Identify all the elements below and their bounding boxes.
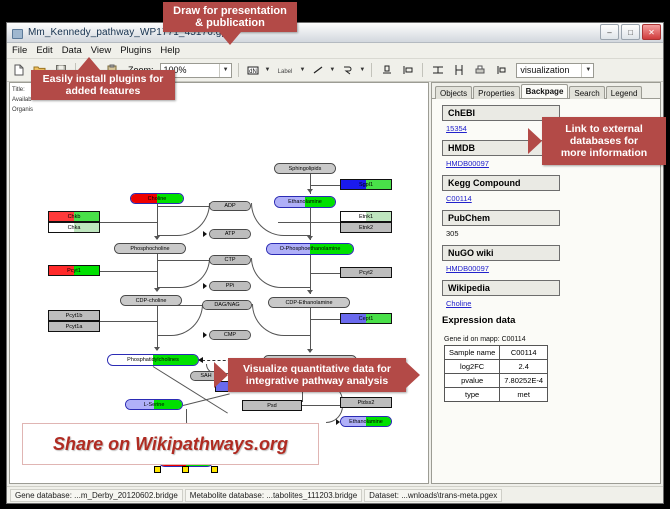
callout-arrow-left-icon [214,362,228,388]
line-icon[interactable] [309,62,326,79]
callout-line: Draw for presentation [173,5,287,17]
callout-line: more information [561,147,647,159]
node-label: Ethanolamine [349,419,383,425]
node-label: Ptdss2 [358,400,375,406]
data-node-icon[interactable]: dN [245,62,262,79]
node-label: SAH [200,373,211,379]
meta-title-label: Title: [12,85,33,95]
callout-arrow-right-icon [406,362,420,388]
node-label: ATP [225,231,235,237]
meta-available-label: Availab [12,95,33,105]
callout-arrow-left-icon [528,128,542,154]
callout-arrow-down-icon [219,32,241,45]
db-link-nugo-wiki[interactable]: HMDB00097 [446,264,652,273]
edge-sgpl1-to-backbone [310,185,340,186]
align-icon[interactable] [378,62,395,79]
node-label: Chkb [68,214,81,220]
status-gene-database: Gene database: ...m_Derby_20120602.bridg… [10,489,183,502]
new-file-icon[interactable] [10,62,27,79]
node-label: PPi [226,283,235,289]
close-button[interactable]: ✕ [642,24,661,40]
arrow-icon [154,288,160,292]
pathway-canvas[interactable]: Title: Availab Organis [9,82,429,484]
db-header-kegg-compound: Kegg Compound [442,175,560,191]
edge-lserine-to-junction [183,393,230,406]
menu-view[interactable]: View [91,45,111,56]
cell-label: pvalue [445,374,500,388]
toolbar-separator-2 [238,63,239,77]
node-label: O-Phosphoethanolamine [280,246,341,252]
node-label: Pcyt2 [359,270,373,276]
chevron-down-icon[interactable]: ▼ [359,67,365,73]
callout-line: Visualize quantitative data for [243,363,391,375]
maximize-button[interactable]: □ [621,24,640,40]
callout-line: & publication [195,17,265,29]
arrow-icon [203,283,207,289]
metabolite-node-ctp[interactable]: CTP [209,255,251,265]
node-label: Chka [68,225,81,231]
visualization-combobox[interactable]: visualization ▼ [516,63,594,78]
edge-cept1-to-backbone [310,319,340,320]
metabolite-node-cmp[interactable]: CMP [209,330,251,340]
status-metabolite-database: Metabolite database: ...tabolites_111203… [185,489,362,502]
toolbar-separator-3 [371,63,372,77]
cell-value: 2.4 [500,360,548,374]
node-label: Phosphocholine [130,246,169,252]
db-link-kegg-compound[interactable]: C00114 [446,194,652,203]
menubar: File Edit Data View Plugins Help [7,43,663,59]
gene-node-chka[interactable]: Chka [48,222,100,233]
node-label: Choline [148,196,167,202]
chevron-down-icon[interactable]: ▼ [299,67,305,73]
arrow-icon [203,231,207,237]
distribute-horizontal-icon[interactable] [450,62,467,79]
expression-data-heading: Expression data [442,315,652,326]
gene-node-sgpl1[interactable]: Sgpl1 [340,179,392,190]
selection-handle[interactable] [154,466,161,473]
node-label: CDP-choline [136,298,167,304]
node-label: CDP-Ethanolamine [285,300,332,306]
metabolite-node-cdp-choline[interactable]: CDP-choline [120,295,182,306]
callout-line: added features [66,85,141,97]
share-banner: Share on Wikipathways.org [22,423,319,465]
arrow-icon [307,290,313,294]
menu-help[interactable]: Help [160,45,180,56]
visualization-value: visualization [520,65,569,75]
node-label: CTP [225,257,236,263]
gene-node-etnk2[interactable]: Etnk2 [340,222,392,233]
node-label: ADP [224,203,235,209]
node-label: Sphingolipids [289,166,322,172]
metabolite-node-ppi[interactable]: PPi [209,281,251,291]
menu-data[interactable]: Data [62,45,82,56]
curve-ctp-ppi-right [251,258,311,288]
arrow-icon [307,189,313,193]
node-label: Pcyt1 [67,268,81,274]
table-row: type met [445,388,548,402]
table-row: Sample name C00114 [445,346,548,360]
gene-node-pcyt1[interactable]: Pcyt1 [48,265,100,276]
window-controls: – □ ✕ [600,24,661,40]
table-row: log2FC 2.4 [445,360,548,374]
anchor-icon[interactable] [339,62,356,79]
cell-label: type [445,388,500,402]
svg-text:dN: dN [249,69,257,75]
gene-node-pcyt1b[interactable]: Pcyt1b [48,310,100,321]
statusbar: Gene database: ...m_Derby_20120602.bridg… [7,486,663,503]
edge-pcyt1ab-to-backbone [100,321,157,322]
menu-file[interactable]: File [12,45,27,56]
node-label: Etnk2 [359,225,373,231]
metabolite-node-ethanolamine-top[interactable]: Ethanolamine [274,196,336,208]
edge-to-adp [157,206,209,207]
chevron-down-icon: ▼ [581,64,591,77]
db-link-wikipedia[interactable]: Choline [446,299,652,308]
svg-text:Label: Label [278,69,293,75]
callout-arrow-up-icon [78,57,100,70]
edge-pcyt1-to-backbone [100,271,157,272]
metabolite-node-dag-nag[interactable]: DAG/NAG [202,300,252,310]
node-label: Cept1 [359,316,374,322]
meta-organism-label: Organis [12,105,33,115]
edge-pcyt2-to-backbone [310,273,340,274]
minimize-button[interactable]: – [600,24,619,40]
callout-line: Link to external [565,123,643,135]
tab-search[interactable]: Search [569,86,604,99]
node-label: Pcyt1a [66,324,83,330]
metabolite-node-adp[interactable]: ADP [209,201,251,211]
menu-edit[interactable]: Edit [36,45,52,56]
gene-id-on-mapp: Gene id on mapp: C00114 [444,336,652,343]
metabolite-node-phosphocholine[interactable]: Phosphocholine [114,243,186,254]
arrow-icon [307,349,313,353]
chevron-down-icon[interactable]: ▼ [329,67,335,73]
window-titlebar: Mm_Kennedy_pathway_WP1771_45176.gpml – □… [7,23,663,43]
tab-backpage[interactable]: Backpage [521,84,569,98]
node-label: Ethanolamine [288,199,322,205]
node-label: L-Serine [144,402,165,408]
db-header-pubchem: PubChem [442,210,560,226]
expression-data-table: Sample name C00114 log2FC 2.4 pvalue 7.8… [444,345,548,402]
cell-value: 7.80252E-4 [500,374,548,388]
cell-label: log2FC [445,360,500,374]
selection-handle[interactable] [211,466,218,473]
arrow-icon [203,332,207,338]
distribute-vertical-icon[interactable] [429,62,446,79]
gene-node-ptdss2[interactable]: Ptdss2 [340,397,392,408]
pathway-meta-labels: Title: Availab Organis [12,85,33,115]
metabolite-node-sphingolipids[interactable]: Sphingolipids [274,163,336,174]
gene-node-psd[interactable]: Psd [242,400,302,411]
node-label: CMP [224,332,236,338]
metabolite-node-phosphatidylcholines[interactable]: Phosphatidylcholines [107,354,199,366]
tab-legend[interactable]: Legend [606,86,643,99]
db-value-pubchem: 305 [446,229,652,238]
cell-label: Sample name [445,346,500,360]
gene-node-etnk1[interactable]: Etnk1 [340,211,392,222]
metabolite-node-cdp-ethanolamine[interactable]: CDP-Ethanolamine [268,297,350,308]
metabolite-node-l-serine-left[interactable]: L-Serine [125,399,183,410]
db-header-nugo-wiki: NuGO wiki [442,245,560,261]
gene-node-pcyt2[interactable]: Pcyt2 [340,267,392,278]
group-icon[interactable] [492,62,509,79]
arrow-icon [307,236,313,240]
status-dataset: Dataset: ...wnloads\trans-meta.pgex [364,489,502,502]
share-banner-text: Share on Wikipathways.org [53,434,288,455]
tab-properties[interactable]: Properties [473,86,519,99]
callout-easily-install-plugins: Easily install plugins for added feature… [31,70,175,100]
print-icon[interactable] [471,62,488,79]
metabolite-node-ethanolamine-bottom[interactable]: Ethanolamine [340,416,392,427]
screenshot-root: Mm_Kennedy_pathway_WP1771_45176.gpml – □… [0,0,670,509]
callout-visualize-quantitative-data: Visualize quantitative data for integrat… [228,358,406,392]
gene-node-pcyt1a[interactable]: Pcyt1a [48,321,100,332]
arrow-icon [154,236,160,240]
node-label: Phosphatidylcholines [127,357,179,363]
gene-node-chkb[interactable]: Chkb [48,211,100,222]
metabolite-node-atp[interactable]: ATP [209,229,251,239]
metabolite-node-o-phosphoethanolamine[interactable]: O-Phosphoethanolamine [266,243,354,255]
cell-value: C00114 [500,346,548,360]
metabolite-node-choline-top[interactable]: Choline [130,193,184,204]
selection-handle[interactable] [182,466,189,473]
node-label: Psd [267,403,276,409]
side-panel-tabs: Objects Properties Backpage Search Legen… [432,83,660,99]
curve-dag-cmp [157,304,203,336]
gene-node-cept1[interactable]: Cept1 [340,313,392,324]
chevron-down-icon[interactable]: ▼ [265,67,271,73]
app-icon [11,27,23,39]
toolbar-separator-4 [422,63,423,77]
node-label: DAG/NAG [214,302,239,308]
curve-dag-cmp-right [252,304,311,336]
node-label: Sgpl1 [359,182,373,188]
menu-plugins[interactable]: Plugins [120,45,151,56]
callout-line: integrative pathway analysis [246,375,388,387]
align-left-icon[interactable] [399,62,416,79]
callout-line: Easily install plugins for [43,73,164,85]
callout-link-to-external-databases: Link to external databases for more info… [542,117,666,165]
callout-line: databases for [570,135,638,147]
cell-value: met [500,388,548,402]
chevron-down-icon: ▼ [219,64,229,77]
edge-chk-to-backbone [100,222,157,223]
label-icon[interactable]: Label [274,62,296,79]
callout-draw-for-publication: Draw for presentation & publication [163,2,297,32]
edge-to-ctp [157,260,209,261]
arrow-icon [154,347,160,351]
db-header-wikipedia: Wikipedia [442,280,560,296]
node-label: Etnk1 [359,214,373,220]
node-label: Pcyt1b [66,313,83,319]
tab-objects[interactable]: Objects [435,86,472,99]
table-row: pvalue 7.80252E-4 [445,374,548,388]
